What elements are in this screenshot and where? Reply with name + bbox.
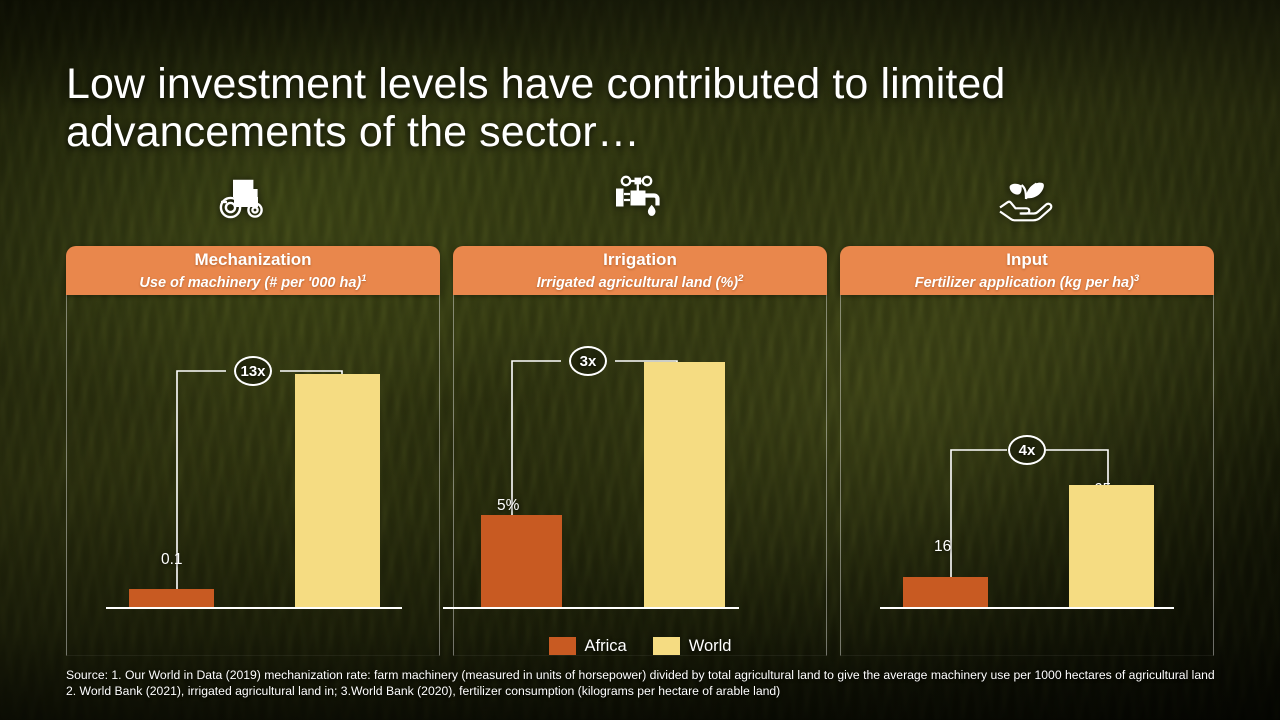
- card-subtitle-text: Use of machinery (# per '000 ha): [139, 274, 361, 290]
- chart-baseline: [106, 607, 402, 609]
- card-title: Mechanization: [194, 250, 311, 270]
- hand-sprout-icon: [976, 168, 1076, 228]
- bar-world: [295, 374, 380, 607]
- bar-africa: [481, 515, 562, 607]
- chart-mechanization: 13x 0.1 1.3: [66, 295, 440, 656]
- card-footnote-marker: 2: [738, 273, 743, 284]
- card-footnote-marker: 3: [1134, 273, 1139, 284]
- africa-value-label: 5%: [497, 497, 519, 515]
- card-header-input: Input Fertilizer application (kg per ha)…: [840, 246, 1214, 295]
- card-irrigation: Irrigation Irrigated agricultural land (…: [453, 246, 827, 656]
- card-input: Input Fertilizer application (kg per ha)…: [840, 246, 1214, 656]
- card-subtitle: Use of machinery (# per '000 ha)1: [139, 270, 366, 292]
- chart-input: 4x 16 65: [840, 295, 1214, 656]
- chart-irrigation: 3x 5% 14%: [453, 295, 827, 656]
- chart-baseline: [443, 607, 739, 609]
- multiplier-badge: 13x: [234, 356, 272, 386]
- card-subtitle: Fertilizer application (kg per ha)3: [915, 270, 1139, 292]
- card-header-mechanization: Mechanization Use of machinery (# per '0…: [66, 246, 440, 295]
- legend-label-africa: Africa: [585, 636, 627, 656]
- multiplier-connector: [66, 295, 440, 656]
- legend-label-world: World: [689, 636, 732, 656]
- icon-row: [66, 168, 1214, 228]
- bar-world: [1069, 485, 1154, 607]
- page-title: Low investment levels have contributed t…: [66, 60, 1126, 156]
- legend-item-world: World: [653, 636, 732, 656]
- bar-africa: [903, 577, 988, 607]
- card-title: Input: [1006, 250, 1048, 270]
- card-subtitle-text: Fertilizer application (kg per ha): [915, 274, 1134, 290]
- bar-world: [644, 362, 725, 607]
- source-note: Source: 1. Our World in Data (2019) mech…: [66, 667, 1226, 699]
- card-mechanization: Mechanization Use of machinery (# per '0…: [66, 246, 440, 656]
- card-subtitle-text: Irrigated agricultural land (%): [537, 274, 738, 290]
- faucet-water-drop-icon: [590, 168, 690, 228]
- legend-swatch-africa: [549, 637, 576, 655]
- card-title: Irrigation: [603, 250, 677, 270]
- multiplier-badge: 3x: [569, 346, 607, 376]
- card-footnote-marker: 1: [361, 273, 366, 284]
- slide: Low investment levels have contributed t…: [0, 0, 1280, 720]
- multiplier-connector: [840, 295, 1214, 656]
- card-header-irrigation: Irrigation Irrigated agricultural land (…: [453, 246, 827, 295]
- africa-value-label: 0.1: [161, 551, 183, 569]
- tractor-icon: [196, 168, 296, 228]
- chart-baseline: [880, 607, 1174, 609]
- africa-value-label: 16: [934, 538, 951, 556]
- bar-africa: [129, 589, 214, 607]
- card-subtitle: Irrigated agricultural land (%)2: [537, 270, 744, 292]
- chart-legend: Africa World: [0, 636, 1280, 656]
- legend-item-africa: Africa: [549, 636, 627, 656]
- legend-swatch-world: [653, 637, 680, 655]
- multiplier-badge: 4x: [1008, 435, 1046, 465]
